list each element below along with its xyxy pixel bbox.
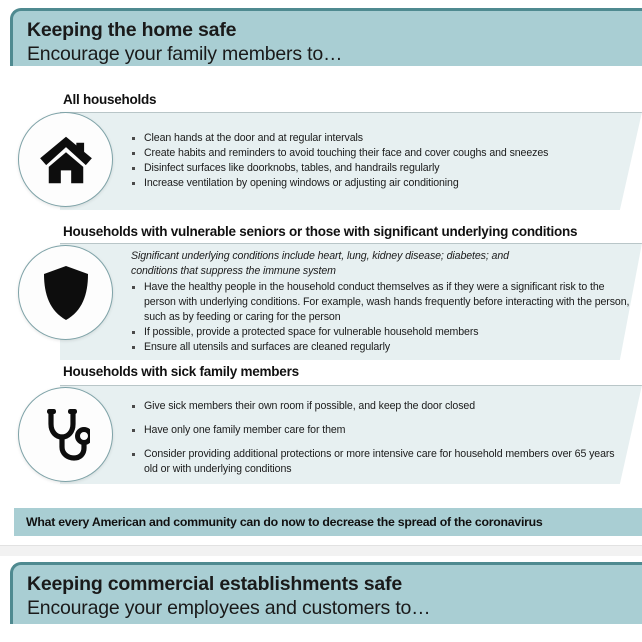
slide-two-header-banner: Keeping commercial establishments safe E… <box>10 562 642 624</box>
page-title-two: Keeping commercial establishments safe <box>27 572 642 596</box>
bullet-list-all-households: Clean hands at the door and at regular i… <box>131 131 581 191</box>
section-note-vulnerable-seniors: Significant underlying conditions includ… <box>131 249 521 279</box>
list-item: Give sick members their own room if poss… <box>131 399 631 414</box>
list-item: Have only one family member care for the… <box>131 423 631 438</box>
shield-icon <box>43 265 89 321</box>
stethoscope-icon <box>42 408 90 462</box>
list-item: Clean hands at the door and at regular i… <box>131 131 581 146</box>
slide-commercial-safe: Keeping commercial establishments safe E… <box>0 556 642 642</box>
list-item: Ensure all utensils and surfaces are cle… <box>131 340 631 355</box>
footer-banner: What every American and community can do… <box>14 508 642 536</box>
slide-header-banner: Keeping the home safe Encourage your fam… <box>10 8 642 66</box>
list-item: Have the healthy people in the household… <box>131 280 631 325</box>
shield-icon-circle <box>18 245 113 340</box>
section-heading-sick-family: Households with sick family members <box>63 364 299 379</box>
footer-text: What every American and community can do… <box>26 515 543 529</box>
section-heading-vulnerable-seniors: Households with vulnerable seniors or th… <box>63 224 577 239</box>
list-item: Disinfect surfaces like doorknobs, table… <box>131 161 581 176</box>
bullet-list-vulnerable-seniors: Have the healthy people in the household… <box>131 280 631 355</box>
page-subtitle-two: Encourage your employees and customers t… <box>27 596 642 621</box>
stethoscope-icon-circle <box>18 387 113 482</box>
section-heading-all-households: All households <box>63 92 156 107</box>
list-item: Create habits and reminders to avoid tou… <box>131 146 581 161</box>
bullet-list-sick-family: Give sick members their own room if poss… <box>131 399 631 477</box>
slide-home-safe: Keeping the home safe Encourage your fam… <box>0 0 642 545</box>
page-title: Keeping the home safe <box>27 18 642 42</box>
list-item: Increase ventilation by opening windows … <box>131 176 581 191</box>
page-subtitle: Encourage your family members to… <box>27 42 642 67</box>
house-icon <box>38 135 94 185</box>
list-item: Consider providing additional protection… <box>131 447 631 477</box>
house-icon-circle <box>18 112 113 207</box>
list-item: If possible, provide a protected space f… <box>131 325 631 340</box>
